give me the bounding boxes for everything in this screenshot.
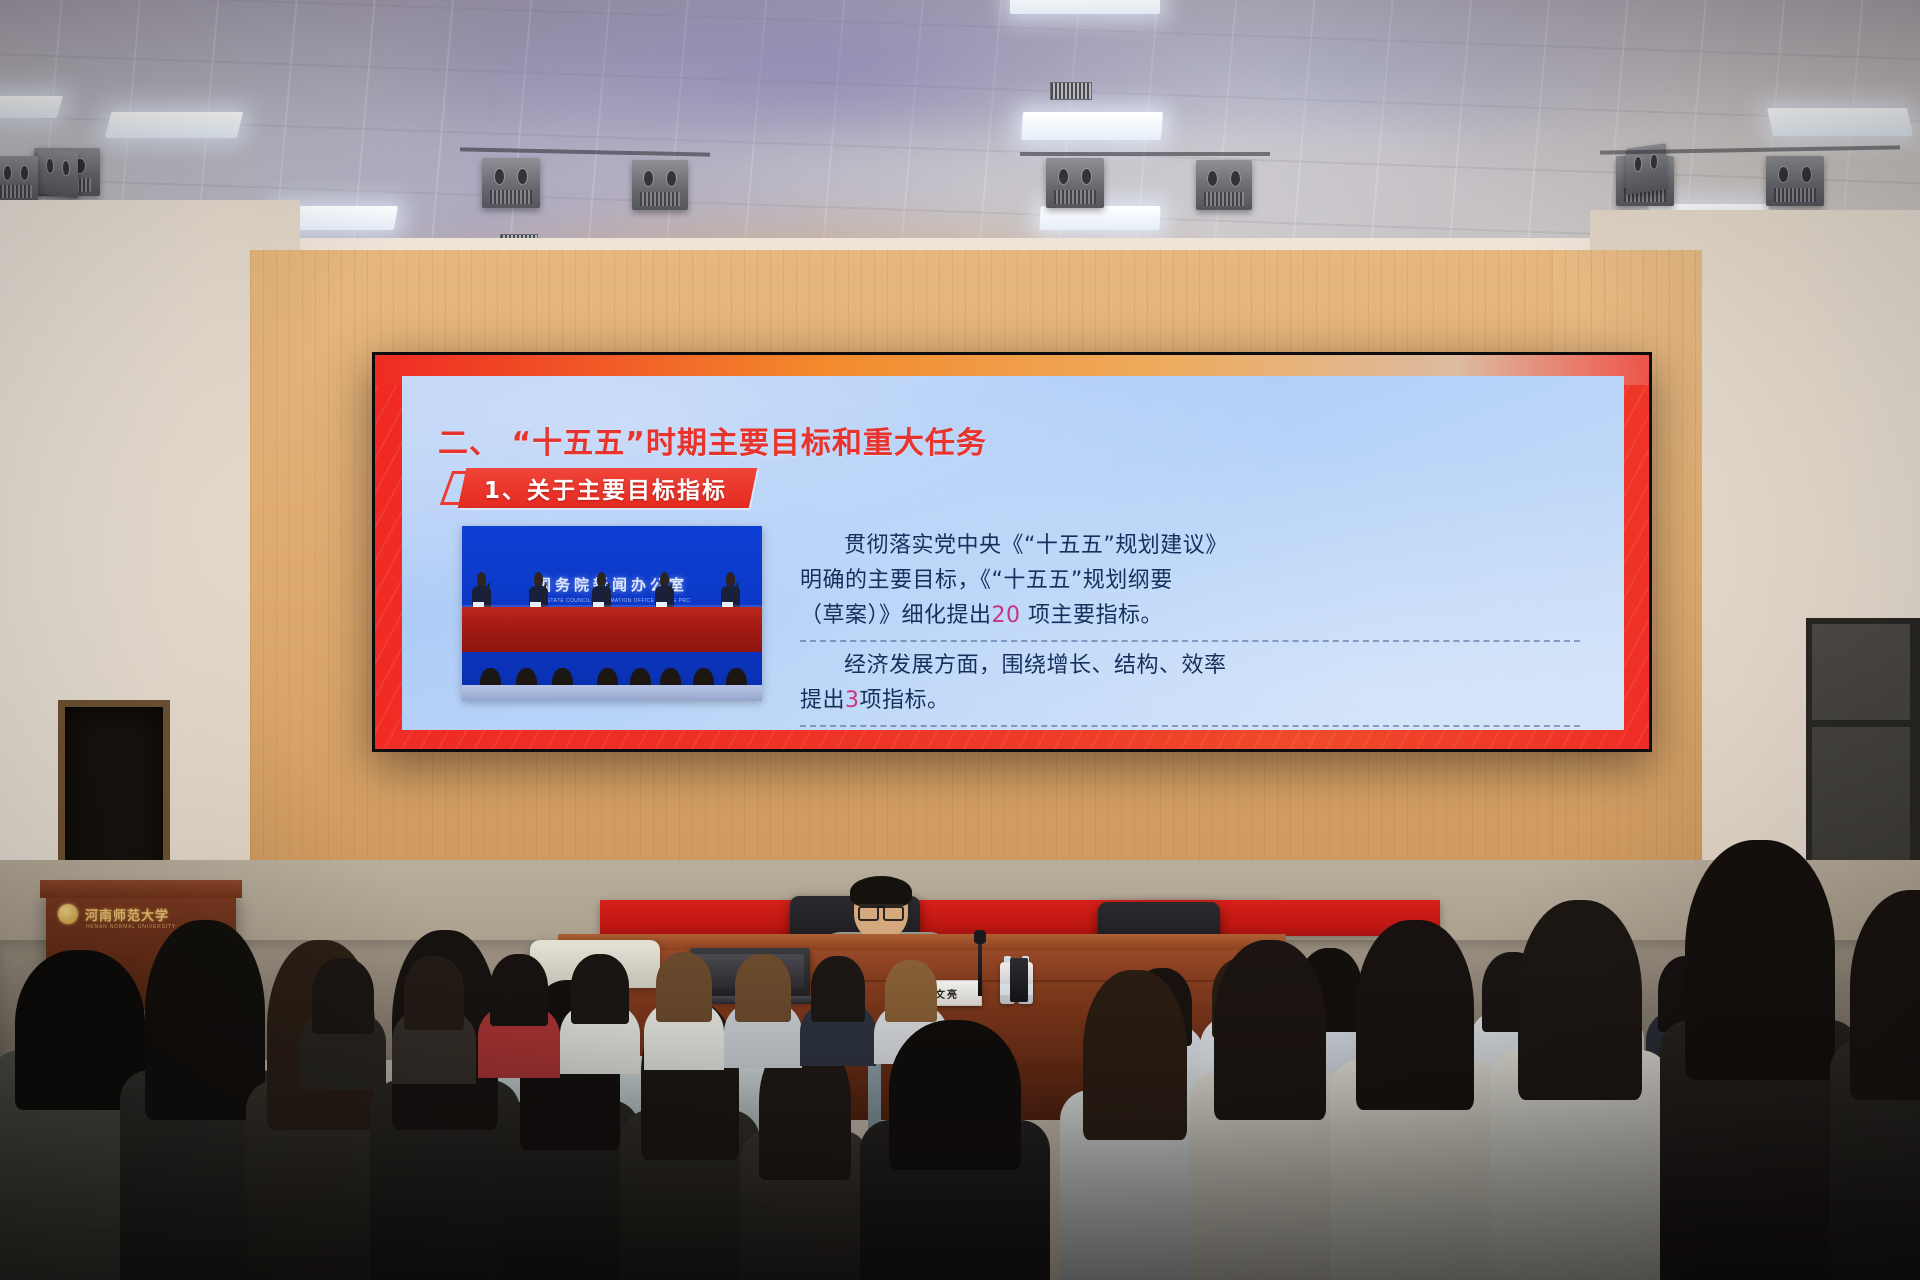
indicator-count-20: 20 [992, 603, 1021, 628]
ceiling-speaker [1196, 160, 1252, 210]
ribbon-body: 1、关于主要目标指标 [458, 468, 758, 508]
audience-person [1190, 950, 1350, 1280]
person-hair [1685, 840, 1835, 1080]
person-hair [656, 952, 712, 1022]
audience-person [392, 958, 476, 1084]
indicator-count-3: 3 [845, 688, 860, 713]
photo-floor [462, 685, 762, 701]
person-hair [1518, 900, 1642, 1100]
ceiling-led-panel [1021, 112, 1163, 140]
audience-person [1060, 980, 1210, 1280]
section-ribbon: 1、关于主要目标指标 [462, 468, 753, 508]
person-hair [1356, 920, 1474, 1110]
official-figure [654, 572, 675, 611]
audience-person [560, 952, 640, 1074]
ceiling-led-panel [1767, 108, 1913, 136]
official-figure [471, 572, 492, 611]
ceiling-speaker [38, 147, 78, 199]
audience-person [644, 950, 724, 1070]
press-table [462, 607, 762, 653]
person-hair [1850, 890, 1920, 1100]
lecture-hall-scene: 二、 “十五五”时期主要目标和重大任务 1、关于主要目标指标 国务院新闻办公室 … [0, 0, 1920, 1280]
ceiling-led-panel [1039, 206, 1160, 230]
person-hair [889, 1020, 1021, 1170]
person-hair [1083, 970, 1187, 1140]
presentation-slide: 二、 “十五五”时期主要目标和重大任务 1、关于主要目标指标 国务院新闻办公室 … [402, 376, 1624, 730]
press-conference-photo: 国务院新闻办公室 THE STATE COUNCIL INFORMATION O… [462, 526, 762, 701]
person-hair [1214, 940, 1326, 1120]
para1-line3-pre: （草案）》细化提出 [800, 603, 992, 628]
person-hair [571, 954, 629, 1024]
slide-title: 二、 “十五五”时期主要目标和重大任务 [438, 418, 987, 462]
audience-person [1330, 930, 1500, 1280]
audience-person [300, 960, 386, 1090]
ceiling-air-vent [1050, 82, 1092, 100]
official-figure [720, 572, 741, 611]
screen-bezel: 二、 “十五五”时期主要目标和重大任务 1、关于主要目标指标 国务院新闻办公室 … [372, 352, 1652, 752]
official-figure [591, 572, 612, 611]
audience-person-foreground [860, 1030, 1050, 1280]
ceiling-speaker [1766, 156, 1824, 206]
ceiling-speaker [482, 158, 540, 208]
audience-area [0, 760, 1920, 1280]
dashed-divider [800, 640, 1580, 642]
person-hair [735, 954, 791, 1022]
para2-line2-pre: 提出 [800, 688, 845, 713]
para2-line2-post: 项指标。 [860, 688, 950, 713]
audience-person [724, 950, 802, 1068]
slide-para1-line1: 贯彻落实党中央《“十五五”规划建议》 [800, 528, 1580, 563]
ceiling-speaker [632, 160, 688, 210]
para1-line3-post: 项主要指标。 [1021, 603, 1164, 628]
ceiling-truss-rail [1020, 152, 1270, 156]
ceiling-led-panel [0, 96, 63, 118]
ceiling-speaker [1046, 158, 1104, 208]
ribbon-label: 1、关于主要目标指标 [484, 471, 727, 505]
slide-body-text: 贯彻落实党中央《“十五五”规划建议》 明确的主要目标，《“十五五”规划纲要 （草… [800, 528, 1580, 730]
slide-para1-line3: （草案）》细化提出20 项主要指标。 [800, 598, 1580, 633]
ceiling-speaker [0, 156, 38, 202]
dashed-divider [800, 725, 1580, 727]
audience-person [1830, 900, 1920, 1280]
person-hair [811, 956, 865, 1022]
audience-person [478, 954, 560, 1078]
slide-para2-line1: 经济发展方面，围绕增长、结构、效率 [800, 648, 1580, 683]
person-hair [490, 954, 548, 1026]
officials-row [462, 572, 762, 611]
person-hair [312, 958, 374, 1034]
ceiling-led-panel [1010, 0, 1160, 14]
slide-para2-line2: 提出3项指标。 [800, 683, 1580, 718]
person-hair [885, 960, 937, 1022]
led-display-screen[interactable]: 二、 “十五五”时期主要目标和重大任务 1、关于主要目标指标 国务院新闻办公室 … [372, 352, 1652, 752]
ceiling-led-panel [105, 112, 243, 138]
slide-para1-line2: 明确的主要目标，《“十五五”规划纲要 [800, 563, 1580, 598]
audience-person [740, 1040, 870, 1280]
audience-person [1490, 910, 1670, 1280]
official-figure [528, 572, 549, 611]
person-hair [404, 956, 464, 1030]
